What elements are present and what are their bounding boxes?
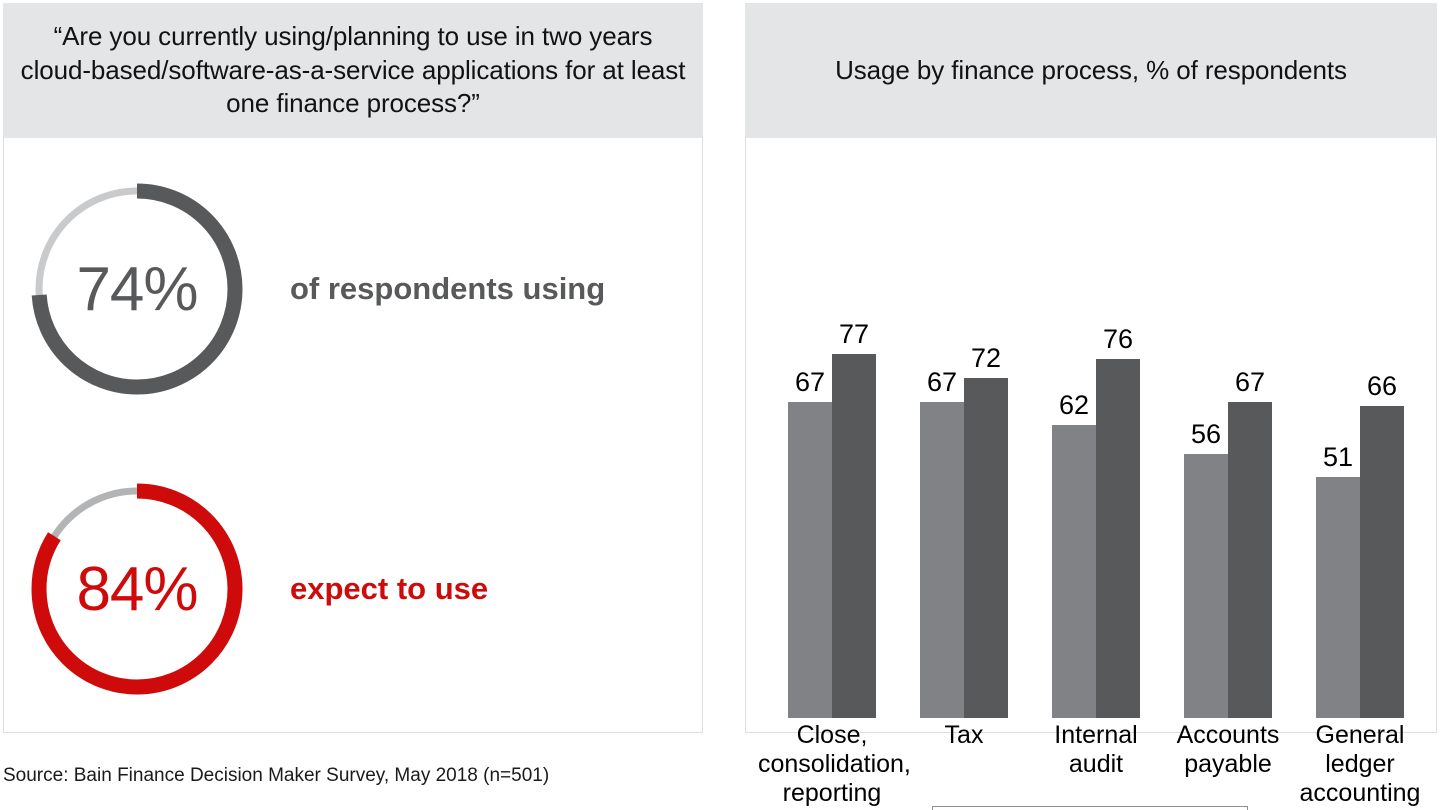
donut-chart-84: 84% <box>26 478 248 700</box>
category-label: Close,consolidation,reporting <box>758 721 906 808</box>
donut-chart-74: 74% <box>26 178 248 400</box>
bar-in-two-years <box>964 378 1008 718</box>
bar-wrapper: 76 <box>1096 293 1140 718</box>
category-label-line: consolidation, <box>758 750 906 779</box>
category-label: Generalledgeraccounting <box>1286 721 1434 808</box>
bar-wrapper: 56 <box>1184 293 1228 718</box>
category-label: Internalaudit <box>1022 721 1170 779</box>
bar-in-two-years <box>832 354 876 718</box>
category-label-line: Tax <box>890 721 1038 750</box>
chart-legend: Today In two years <box>932 806 1248 810</box>
donut-stat-using: 74% of respondents using <box>26 178 605 400</box>
category-label: Accountspayable <box>1154 721 1302 779</box>
bar-group: 6777 <box>766 293 898 718</box>
category-label-line: audit <box>1022 750 1170 779</box>
bar-today <box>920 402 964 718</box>
donut-value-74: 74% <box>26 178 248 400</box>
bar-today <box>1316 477 1360 718</box>
donut-stat-expect: 84% expect to use <box>26 478 488 700</box>
bar-value-label: 51 <box>1316 444 1360 471</box>
right-panel: Usage by finance process, % of responden… <box>745 3 1437 733</box>
bar-value-label: 56 <box>1184 421 1228 448</box>
bar-wrapper: 67 <box>1228 293 1272 718</box>
category-label-line: General <box>1286 721 1434 750</box>
bar-in-two-years <box>1228 402 1272 718</box>
donut-value-84: 84% <box>26 478 248 700</box>
bar-wrapper: 72 <box>964 293 1008 718</box>
bar-value-label: 66 <box>1360 373 1404 400</box>
bar-wrapper: 67 <box>788 293 832 718</box>
left-panel: “Are you currently using/planning to use… <box>3 3 703 733</box>
bar-group: 6276 <box>1030 293 1162 718</box>
bar-wrapper: 66 <box>1360 293 1404 718</box>
bar-wrapper: 62 <box>1052 293 1096 718</box>
category-label-line: Internal <box>1022 721 1170 750</box>
category-label-line: Close, <box>758 721 906 750</box>
bar-in-two-years <box>1360 406 1404 718</box>
bar-value-label: 62 <box>1052 392 1096 419</box>
bar-chart-plot-area: 67776772627656675166 <box>766 293 1426 718</box>
bar-wrapper: 51 <box>1316 293 1360 718</box>
bar-chart: 67776772627656675166 Close,consolidation… <box>746 273 1438 810</box>
chart-title: Usage by finance process, % of responden… <box>835 54 1347 88</box>
survey-question-text: “Are you currently using/planning to use… <box>17 20 689 121</box>
bar-value-label: 67 <box>788 369 832 396</box>
bar-group: 6772 <box>898 293 1030 718</box>
bar-wrapper: 77 <box>832 293 876 718</box>
bar-wrapper: 67 <box>920 293 964 718</box>
slide-canvas: “Are you currently using/planning to use… <box>0 0 1440 810</box>
category-label: Tax <box>890 721 1038 750</box>
bar-today <box>1052 425 1096 718</box>
bar-value-label: 76 <box>1096 326 1140 353</box>
category-label-line: accounting <box>1286 779 1434 808</box>
bar-in-two-years <box>1096 359 1140 718</box>
bar-value-label: 77 <box>832 321 876 348</box>
category-label-line: payable <box>1154 750 1302 779</box>
bar-group: 5166 <box>1294 293 1426 718</box>
bar-group: 5667 <box>1162 293 1294 718</box>
left-panel-body: 74% of respondents using 84% expect to u… <box>3 138 703 733</box>
bar-today <box>788 402 832 718</box>
category-label-line: Accounts <box>1154 721 1302 750</box>
category-label-line: reporting <box>758 779 906 808</box>
donut-label-using: of respondents using <box>290 271 605 307</box>
right-panel-header: Usage by finance process, % of responden… <box>745 3 1437 138</box>
category-label-line: ledger <box>1286 750 1434 779</box>
left-panel-header: “Are you currently using/planning to use… <box>3 3 703 138</box>
right-panel-body: 67776772627656675166 Close,consolidation… <box>745 138 1437 733</box>
bar-value-label: 72 <box>964 345 1008 372</box>
bar-value-label: 67 <box>920 369 964 396</box>
bar-chart-category-axis: Close,consolidation,reportingTaxInternal… <box>766 721 1426 810</box>
bar-value-label: 67 <box>1228 369 1272 396</box>
source-note: Source: Bain Finance Decision Maker Surv… <box>3 765 549 787</box>
bar-today <box>1184 454 1228 718</box>
donut-label-expect: expect to use <box>290 571 488 607</box>
